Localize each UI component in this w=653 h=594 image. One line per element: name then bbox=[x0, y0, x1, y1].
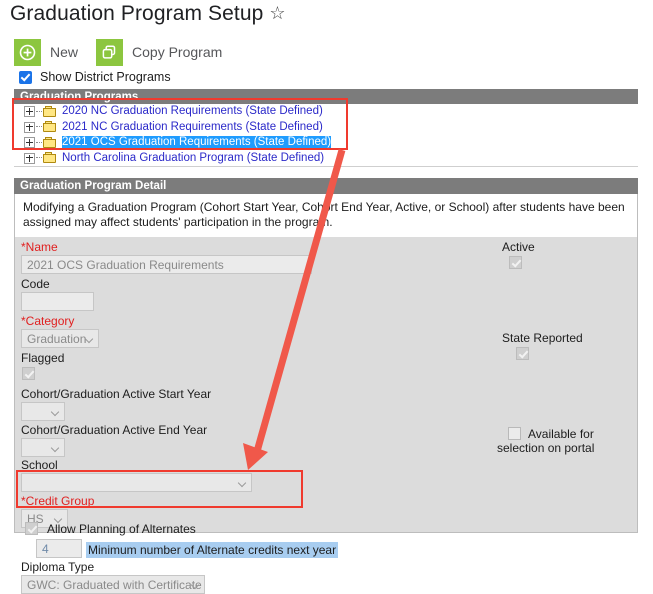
min-alternate-credits-input[interactable]: 4 bbox=[36, 539, 82, 558]
flagged-checkbox[interactable] bbox=[22, 367, 35, 380]
active-checkbox[interactable] bbox=[509, 256, 522, 269]
cohort-end-year-select[interactable] bbox=[21, 438, 65, 457]
chevron-down-icon bbox=[52, 409, 59, 413]
chevron-down-icon bbox=[192, 582, 199, 586]
show-district-programs-checkbox[interactable] bbox=[19, 71, 32, 84]
copy-program-label: Copy Program bbox=[132, 44, 222, 60]
cohort-start-year-select[interactable] bbox=[21, 402, 65, 421]
expand-icon[interactable] bbox=[24, 106, 35, 117]
tree-item-0[interactable]: 2020 NC Graduation Requirements (State D… bbox=[14, 104, 638, 120]
school-select[interactable] bbox=[21, 473, 252, 492]
portal-availability-checkbox[interactable] bbox=[508, 427, 521, 440]
star-icon[interactable]: ☆ bbox=[269, 3, 285, 24]
chevron-down-icon bbox=[86, 336, 93, 340]
graduation-program-detail-panel: Modifying a Graduation Program (Cohort S… bbox=[14, 194, 638, 533]
diploma-type-label: Diploma Type bbox=[21, 560, 94, 574]
tree-item-2[interactable]: 2021 OCS Graduation Requirements (State … bbox=[14, 135, 638, 151]
allow-planning-alternates-label: Allow Planning of Alternates bbox=[47, 522, 196, 536]
tree-item-label: North Carolina Graduation Program (State… bbox=[62, 152, 324, 165]
name-input[interactable]: 2021 OCS Graduation Requirements bbox=[21, 255, 312, 274]
min-alternate-credits-label: Minimum number of Alternate credits next… bbox=[86, 542, 338, 558]
credit-group-label: *Credit Group bbox=[21, 494, 94, 508]
category-select[interactable]: Graduation bbox=[21, 329, 99, 348]
chevron-down-icon bbox=[55, 516, 62, 520]
tree-connector bbox=[36, 142, 42, 144]
diploma-type-select[interactable]: GWC: Graduated with Certificate bbox=[21, 575, 205, 594]
category-select-value: Graduation bbox=[27, 332, 86, 346]
code-input[interactable] bbox=[21, 292, 94, 311]
chevron-down-icon bbox=[52, 445, 59, 449]
graduation-programs-tree: 2020 NC Graduation Requirements (State D… bbox=[14, 104, 638, 167]
state-reported-label: State Reported bbox=[502, 331, 583, 345]
expand-icon[interactable] bbox=[24, 137, 35, 148]
graduation-program-detail-header: Graduation Program Detail bbox=[14, 178, 638, 194]
state-reported-checkbox[interactable] bbox=[516, 347, 529, 360]
folder-icon bbox=[43, 121, 57, 133]
modification-notice: Modifying a Graduation Program (Cohort S… bbox=[15, 194, 637, 237]
portal-availability-label-line1: Available for bbox=[528, 427, 594, 441]
cohort-start-year-label: Cohort/Graduation Active Start Year bbox=[21, 387, 211, 401]
copy-program-button[interactable]: Copy Program bbox=[96, 39, 222, 66]
cohort-end-year-label: Cohort/Graduation Active End Year bbox=[21, 423, 207, 437]
name-label: *Name bbox=[21, 240, 58, 254]
app-root: Graduation Program Setup☆ New Copy Progr… bbox=[0, 0, 653, 533]
new-button-label: New bbox=[50, 44, 78, 60]
tree-item-3[interactable]: North Carolina Graduation Program (State… bbox=[14, 151, 638, 167]
flagged-label: Flagged bbox=[21, 351, 64, 365]
folder-icon bbox=[43, 106, 57, 118]
tree-item-label: 2020 NC Graduation Requirements (State D… bbox=[62, 105, 323, 118]
page-title: Graduation Program Setup☆ bbox=[10, 2, 286, 26]
detail-form: *Name 2021 OCS Graduation Requirements C… bbox=[15, 237, 637, 575]
new-button[interactable]: New bbox=[14, 39, 78, 66]
expand-icon[interactable] bbox=[24, 153, 35, 164]
plus-circle-icon bbox=[14, 39, 41, 66]
tree-connector bbox=[36, 111, 42, 113]
category-label: *Category bbox=[21, 314, 74, 328]
school-label: School bbox=[21, 458, 58, 472]
tree-connector bbox=[36, 157, 42, 159]
diploma-type-value: GWC: Graduated with Certificate bbox=[27, 578, 202, 592]
show-district-programs-row[interactable]: Show District Programs bbox=[19, 70, 171, 84]
expand-icon[interactable] bbox=[24, 122, 35, 133]
tree-item-label: 2021 OCS Graduation Requirements (State … bbox=[62, 136, 331, 149]
copy-icon bbox=[96, 39, 123, 66]
allow-planning-alternates-checkbox[interactable] bbox=[25, 522, 38, 535]
code-label: Code bbox=[21, 277, 50, 291]
active-label: Active bbox=[502, 240, 535, 254]
portal-availability-label-line2: selection on portal bbox=[497, 441, 594, 455]
tree-item-1[interactable]: 2021 NC Graduation Requirements (State D… bbox=[14, 120, 638, 136]
folder-icon bbox=[43, 152, 57, 164]
show-district-programs-label: Show District Programs bbox=[40, 70, 171, 84]
tree-connector bbox=[36, 126, 42, 128]
folder-icon bbox=[43, 137, 57, 149]
graduation-programs-header: Graduation Programs bbox=[14, 89, 638, 104]
page-title-text: Graduation Program Setup bbox=[10, 2, 263, 25]
toolbar: New Copy Program bbox=[14, 38, 240, 66]
tree-item-label: 2021 NC Graduation Requirements (State D… bbox=[62, 121, 323, 134]
chevron-down-icon bbox=[239, 480, 246, 484]
